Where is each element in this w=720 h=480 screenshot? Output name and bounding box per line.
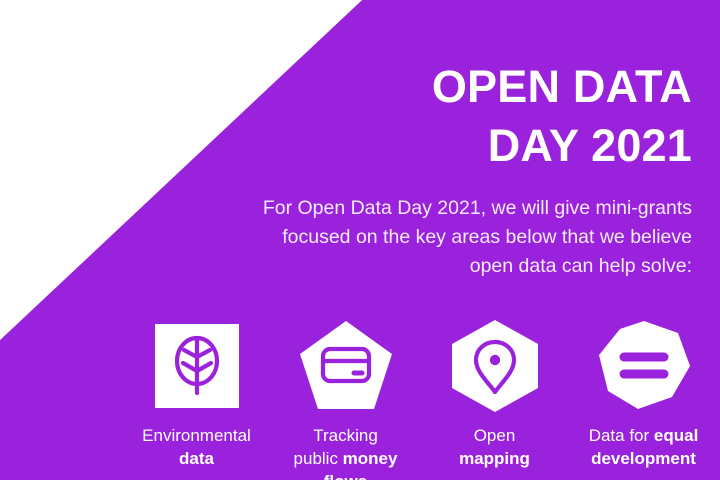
key-areas-list: Environmental data Tracking public money bbox=[122, 318, 720, 480]
label-line-1: Tracking bbox=[271, 424, 420, 447]
card-open-mapping[interactable]: Open mapping bbox=[420, 318, 569, 470]
title-line-2: DAY 2021 bbox=[132, 116, 692, 175]
hexagon-badge bbox=[447, 318, 543, 414]
intro-line-3: open data can help solve: bbox=[132, 252, 692, 281]
heptagon-badge bbox=[596, 318, 692, 414]
square-badge bbox=[149, 318, 245, 414]
label-bold-text: equal bbox=[654, 426, 698, 445]
label-line-2: data bbox=[122, 447, 271, 470]
card-label-environmental-data: Environmental data bbox=[122, 424, 271, 470]
label-line-1: Environmental bbox=[122, 424, 271, 447]
label-plain-text: Data for bbox=[589, 426, 654, 445]
label-line-1: Data for equal bbox=[569, 424, 718, 447]
card-label-open-mapping: Open mapping bbox=[420, 424, 569, 470]
intro-line-2: focused on the key areas below that we b… bbox=[132, 223, 692, 252]
label-plain-text: public bbox=[294, 449, 343, 468]
card-environmental-data[interactable]: Environmental data bbox=[122, 318, 271, 470]
label-line-2: development bbox=[569, 447, 718, 470]
intro-line-1: For Open Data Day 2021, we will give min… bbox=[132, 194, 692, 223]
card-tracking-public-money[interactable]: Tracking public money flows bbox=[271, 318, 420, 480]
poster-canvas: OPEN DATA DAY 2021 For Open Data Day 202… bbox=[0, 0, 720, 480]
label-bold-text: mapping bbox=[459, 449, 530, 468]
label-line-2: public money bbox=[271, 447, 420, 470]
pentagon-badge bbox=[298, 318, 394, 414]
card-label-data-for-equal-development: Data for equal development bbox=[569, 424, 718, 470]
label-bold-text-clipped: flows bbox=[324, 472, 367, 480]
label-bold-text: data bbox=[179, 449, 214, 468]
label-line-3-clipped: flows bbox=[271, 470, 420, 480]
page-title: OPEN DATA DAY 2021 bbox=[132, 57, 692, 175]
label-bold-text-2: development bbox=[591, 449, 696, 468]
label-bold-text: money bbox=[343, 449, 398, 468]
label-line-2: mapping bbox=[420, 447, 569, 470]
card-label-tracking-public-money: Tracking public money flows bbox=[271, 424, 420, 480]
intro-paragraph: For Open Data Day 2021, we will give min… bbox=[132, 194, 692, 281]
card-data-for-equal-development[interactable]: Data for equal development bbox=[569, 318, 718, 470]
label-line-1: Open bbox=[420, 424, 569, 447]
title-line-1: OPEN DATA bbox=[132, 57, 692, 116]
